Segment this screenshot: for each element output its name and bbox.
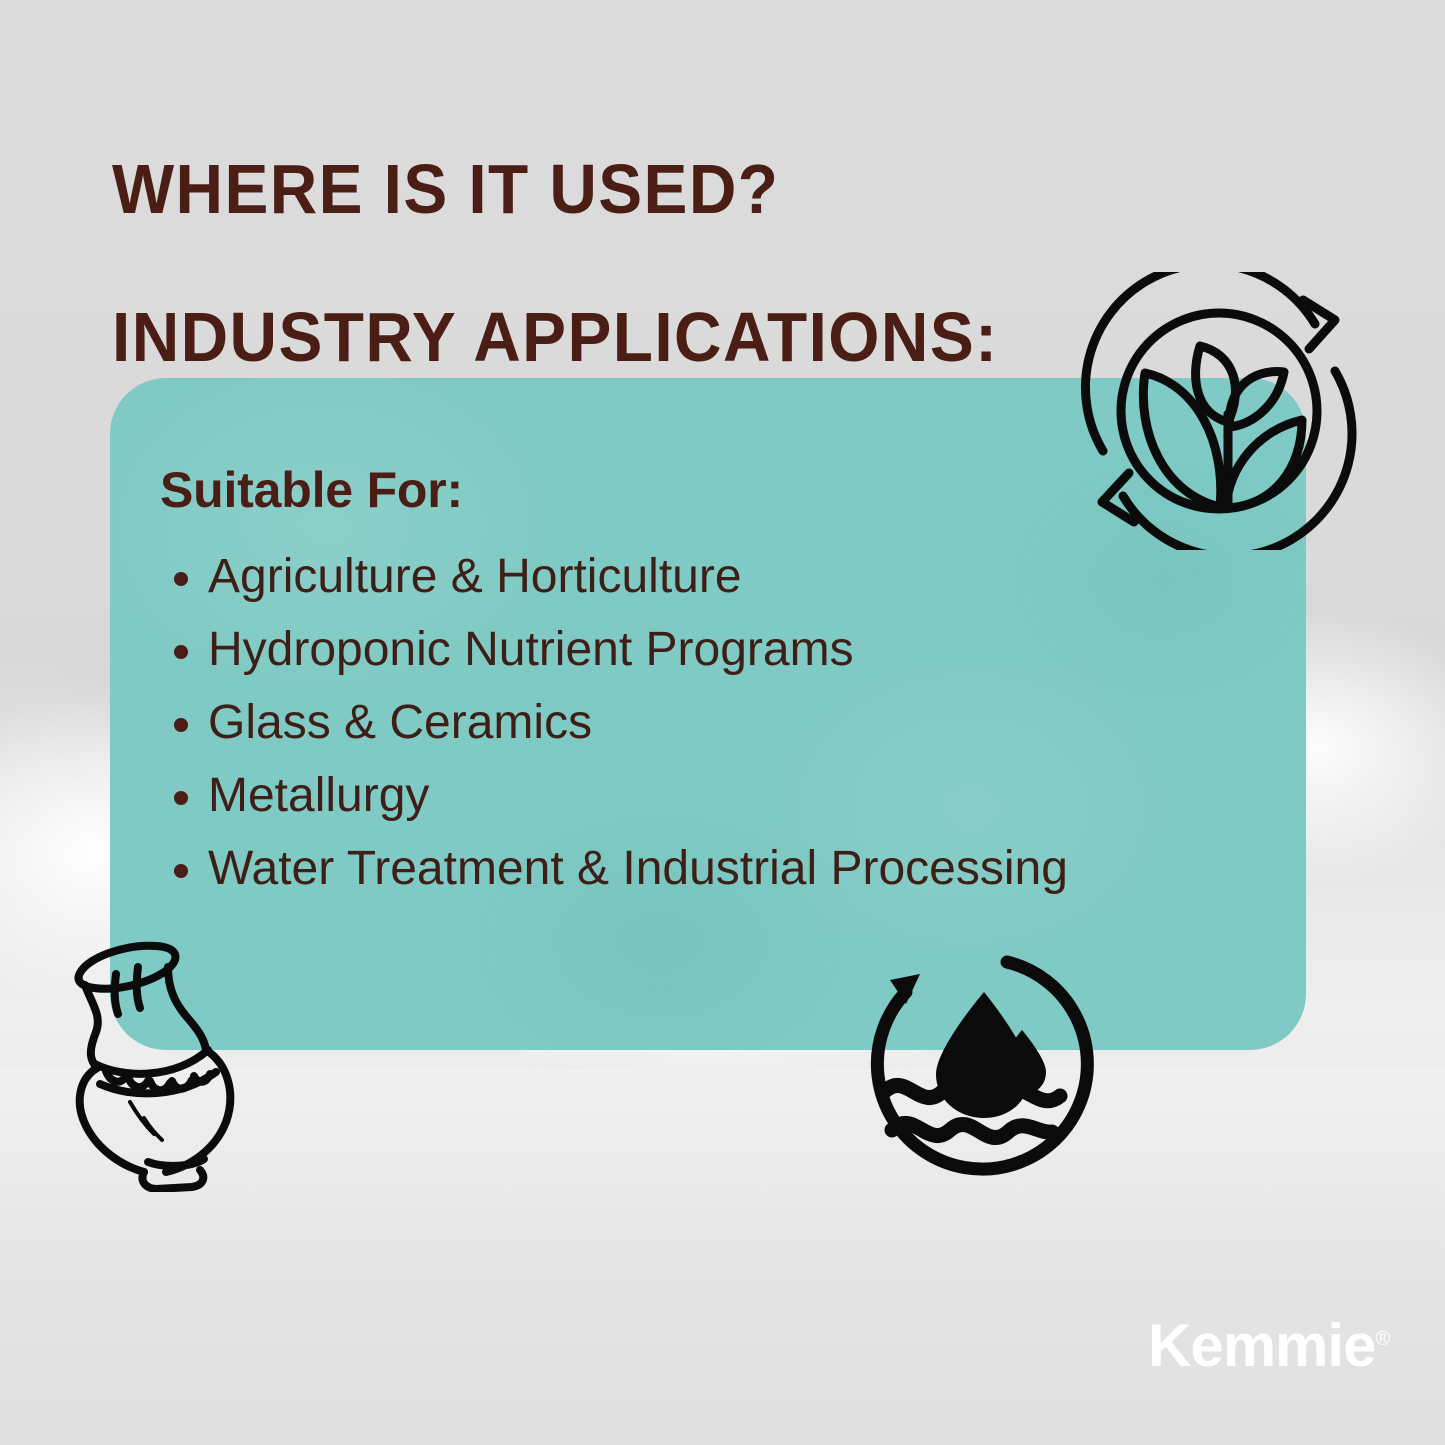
bullet-dot-icon — [174, 791, 188, 805]
list-item-label: Metallurgy — [208, 769, 429, 822]
brand-logo: Kemmie® — [1148, 1307, 1390, 1378]
list-item: Hydroponic Nutrient Programs — [160, 613, 1266, 686]
page-title-line-1: WHERE IS IT USED? — [112, 152, 1099, 226]
list-item: Metallurgy — [160, 759, 1266, 832]
list-item-label: Hydroponic Nutrient Programs — [208, 623, 854, 676]
list-item: Agriculture & Horticulture — [160, 540, 1266, 613]
bullet-dot-icon — [174, 572, 188, 586]
list-item-label: Glass & Ceramics — [208, 696, 592, 749]
brand-logo-name: Kemmie — [1148, 1312, 1375, 1379]
bullet-dot-icon — [174, 645, 188, 659]
recycle-plant-icon — [1078, 272, 1360, 550]
registered-trademark-icon: ® — [1375, 1328, 1390, 1350]
list-item: Glass & Ceramics — [160, 686, 1266, 759]
page-title-line-2: INDUSTRY APPLICATIONS: — [112, 300, 1099, 374]
water-treatment-icon — [862, 952, 1100, 1184]
poster-canvas: WHERE IS IT USED? INDUSTRY APPLICATIONS:… — [0, 0, 1445, 1445]
bullet-dot-icon — [174, 718, 188, 732]
applications-list: Agriculture & Horticulture Hydroponic Nu… — [160, 540, 1266, 905]
list-item: Water Treatment & Industrial Processing — [160, 832, 1266, 905]
list-item-label: Agriculture & Horticulture — [208, 550, 742, 603]
bullet-dot-icon — [174, 864, 188, 878]
ceramic-vase-icon — [52, 938, 284, 1192]
list-item-label: Water Treatment & Industrial Processing — [208, 842, 1068, 895]
